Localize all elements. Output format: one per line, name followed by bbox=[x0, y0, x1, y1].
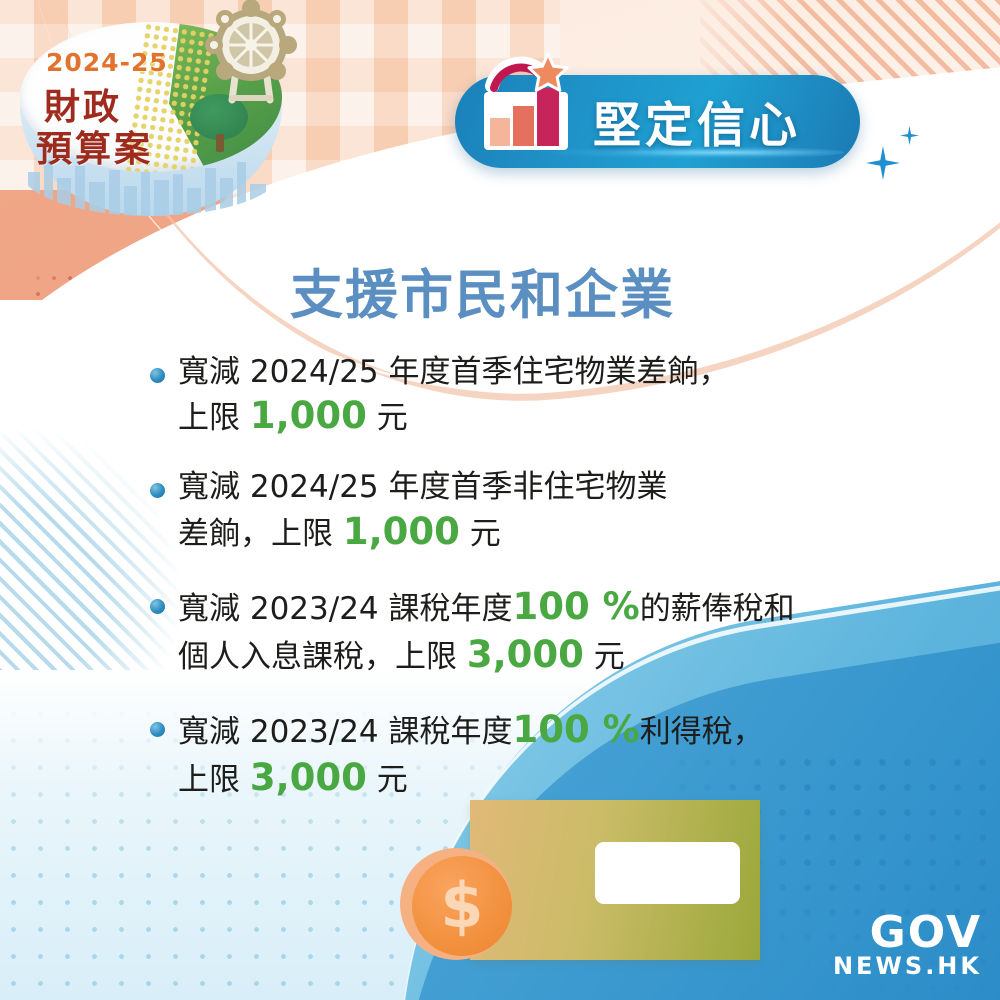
bullet-dot-icon bbox=[150, 368, 165, 383]
govnews-logo-secondary: NEWS.HK bbox=[833, 954, 982, 978]
bullet-dot-icon bbox=[150, 483, 165, 498]
bullet-text-line: 寬減 2023/24 課稅年度100 %利得稅， bbox=[178, 706, 930, 754]
text-segment: 寬減 2024/25 年度首季住宅物業差餉， bbox=[178, 354, 730, 390]
budget-infographic-poster: 2024-25 財政 預算案 堅定信心 支援市民和企業 寬減 2024/25 年… bbox=[0, 0, 1000, 1000]
bullet-profits-tax: 寬減 2023/24 課稅年度100 %利得稅，上限 3,000 元 bbox=[150, 706, 930, 802]
bullet-dot-icon bbox=[150, 722, 165, 737]
text-segment: 元 bbox=[367, 762, 408, 798]
tree-trunk bbox=[216, 134, 224, 152]
header-banner-label: 堅定信心 bbox=[593, 85, 801, 155]
bullet-text-line: 個人入息課稅，上限 3,000 元 bbox=[178, 631, 930, 679]
bar-chart-star-icon bbox=[470, 48, 590, 168]
sparkle-icon-small bbox=[900, 126, 919, 145]
bullet-text-line: 差餉，上限 1,000 元 bbox=[178, 508, 930, 556]
bullet-rates-nonresidential: 寬減 2024/25 年度首季非住宅物業差餉，上限 1,000 元 bbox=[150, 467, 930, 555]
bullet-text-line: 寬減 2024/25 年度首季住宅物業差餉， bbox=[178, 352, 930, 392]
percent-value: 100 % bbox=[513, 585, 640, 628]
coin-dollar-sign: $ bbox=[412, 856, 512, 956]
govnews-logo-primary: GOV bbox=[833, 912, 982, 954]
amount-value: 1,000 bbox=[343, 510, 460, 553]
coin-icon: $ bbox=[400, 848, 518, 966]
bullet-text-line: 上限 3,000 元 bbox=[178, 754, 930, 802]
text-segment: 利得稅， bbox=[640, 714, 764, 750]
text-segment: 差餉，上限 bbox=[178, 516, 343, 552]
ferris-wheel-icon bbox=[202, 0, 300, 106]
bullet-rates-residential: 寬減 2024/25 年度首季住宅物業差餉，上限 1,000 元 bbox=[150, 352, 930, 440]
amount-value: 1,000 bbox=[250, 394, 367, 437]
amount-value: 3,000 bbox=[250, 756, 367, 799]
bullet-text-line: 寬減 2023/24 課稅年度100 %的薪俸稅和 bbox=[178, 583, 930, 631]
bullet-dot-icon bbox=[150, 599, 165, 614]
text-segment: 元 bbox=[584, 639, 625, 675]
text-segment: 上限 bbox=[178, 400, 250, 436]
percent-value: 100 % bbox=[513, 708, 640, 751]
amount-value: 3,000 bbox=[467, 633, 584, 676]
bullet-salaries-tax: 寬減 2023/24 課稅年度100 %的薪俸稅和個人入息課稅，上限 3,000… bbox=[150, 583, 930, 679]
bullet-text-line: 上限 1,000 元 bbox=[178, 392, 930, 440]
text-segment: 寬減 2023/24 課稅年度 bbox=[178, 591, 513, 627]
text-segment: 上限 bbox=[178, 762, 250, 798]
bullet-text-line: 寬減 2024/25 年度首季非住宅物業 bbox=[178, 467, 930, 507]
budget-logo: 2024-25 財政 預算案 bbox=[6, 4, 298, 226]
dot-pattern-left bbox=[30, 270, 170, 390]
text-segment: 元 bbox=[367, 400, 408, 436]
text-segment: 的薪俸稅和 bbox=[640, 591, 795, 627]
text-segment: 元 bbox=[460, 516, 501, 552]
bullet-list: 寬減 2024/25 年度首季住宅物業差餉，上限 1,000 元寬減 2024/… bbox=[150, 352, 930, 829]
text-segment: 寬減 2024/25 年度首季非住宅物業 bbox=[178, 469, 668, 505]
text-segment: 個人入息課稅，上限 bbox=[178, 639, 467, 675]
budget-title-line2: 預算案 bbox=[36, 120, 153, 172]
text-segment: 寬減 2023/24 課稅年度 bbox=[178, 714, 513, 750]
page-title: 支援市民和企業 bbox=[290, 253, 675, 329]
envelope-window bbox=[595, 842, 740, 904]
budget-year-label: 2024-25 bbox=[46, 48, 168, 77]
govnews-logo: GOV NEWS.HK bbox=[833, 912, 982, 978]
sparkle-icon-large bbox=[866, 146, 900, 180]
